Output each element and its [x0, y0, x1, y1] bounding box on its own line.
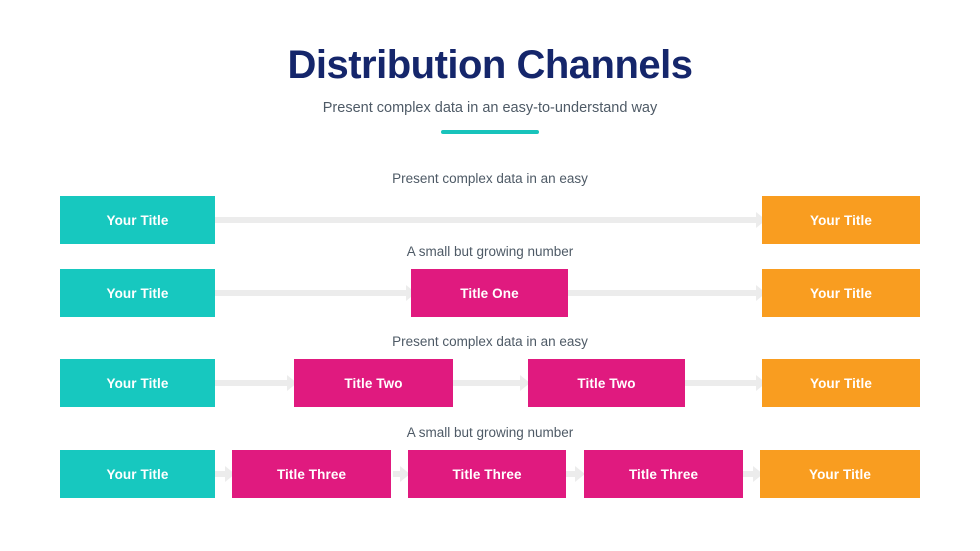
node-block[interactable]: Your Title — [762, 269, 920, 317]
node-label: Your Title — [810, 286, 872, 301]
node-label: Your Title — [810, 213, 872, 228]
node-block[interactable]: Your Title — [760, 450, 920, 498]
node-label: Your Title — [810, 376, 872, 391]
page-title: Distribution Channels — [0, 40, 980, 90]
connector-line — [215, 290, 410, 296]
node-label: Title Three — [629, 467, 698, 482]
node-block[interactable]: Title Three — [584, 450, 743, 498]
node-block[interactable]: Title Two — [294, 359, 453, 407]
node-block[interactable]: Title Two — [528, 359, 685, 407]
channel-row-2: A small but growing number Your Title Ti… — [0, 243, 980, 333]
node-label: Title Three — [277, 467, 346, 482]
node-block[interactable]: Your Title — [762, 359, 920, 407]
node-label: Your Title — [106, 286, 168, 301]
connector-line — [568, 290, 760, 296]
row-track: Your Title Title One Your Title — [0, 269, 980, 317]
node-label: Your Title — [809, 467, 871, 482]
node-label: Your Title — [106, 213, 168, 228]
connector-line — [215, 380, 290, 386]
node-label: Title Two — [344, 376, 402, 391]
page-subtitle: Present complex data in an easy-to-under… — [0, 98, 980, 118]
connector-line — [685, 380, 760, 386]
channel-row-4: A small but growing number Your Title Ti… — [0, 424, 980, 514]
channel-row-3: Present complex data in an easy Your Tit… — [0, 333, 980, 423]
connector-line — [453, 380, 523, 386]
row-caption: A small but growing number — [0, 424, 980, 442]
node-block[interactable]: Title Three — [232, 450, 391, 498]
row-caption: Present complex data in an easy — [0, 170, 980, 188]
row-track: Your Title Your Title — [0, 196, 980, 244]
row-caption: Present complex data in an easy — [0, 333, 980, 351]
slide-canvas: Distribution Channels Present complex da… — [0, 0, 980, 551]
row-caption: A small but growing number — [0, 243, 980, 261]
node-label: Title One — [460, 286, 518, 301]
node-block[interactable]: Your Title — [60, 269, 215, 317]
node-block[interactable]: Your Title — [762, 196, 920, 244]
node-block[interactable]: Your Title — [60, 196, 215, 244]
node-label: Your Title — [106, 376, 168, 391]
node-label: Title Two — [577, 376, 635, 391]
accent-divider — [441, 130, 539, 134]
node-label: Title Three — [452, 467, 521, 482]
node-block[interactable]: Title Three — [408, 450, 566, 498]
node-block[interactable]: Title One — [411, 269, 568, 317]
row-track: Your Title Title Three Title Three Title… — [0, 450, 980, 498]
row-track: Your Title Title Two Title Two Your Titl… — [0, 359, 980, 407]
node-block[interactable]: Your Title — [60, 359, 215, 407]
connector-line — [215, 217, 760, 223]
node-label: Your Title — [106, 467, 168, 482]
node-block[interactable]: Your Title — [60, 450, 215, 498]
